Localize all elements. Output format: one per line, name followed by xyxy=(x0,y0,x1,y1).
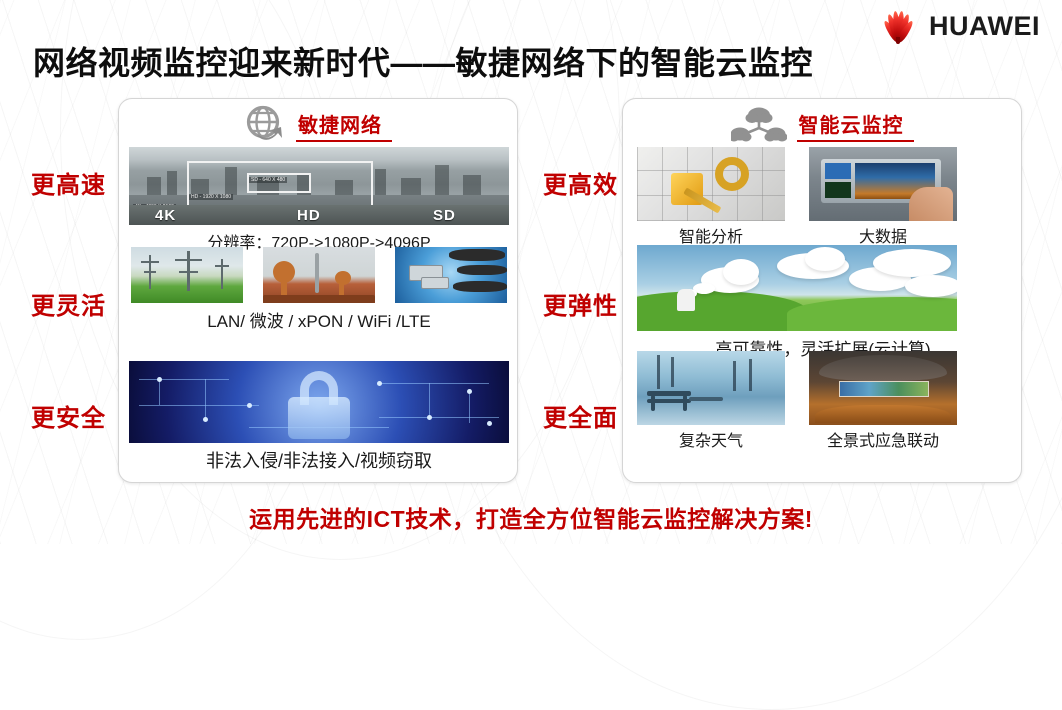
emergency-response-caption: 全景式应急联动 xyxy=(809,427,957,451)
panoramic-command-center-image xyxy=(809,351,957,425)
benefit-label-more-efficient: 更高效 xyxy=(543,165,618,200)
resolution-label-4k: 4K xyxy=(155,207,176,224)
benefit-label-more-comprehensive: 更全面 xyxy=(543,398,618,433)
benefit-label-more-flexible: 更灵活 xyxy=(31,286,106,321)
network-cable-connectors-image xyxy=(395,247,507,303)
circuit-board-padlock-security-image xyxy=(129,361,509,443)
huawei-flower-logo-icon xyxy=(874,8,920,44)
cloud-network-icon xyxy=(731,106,787,144)
slide-title: 网络视频监控迎来新时代——敏捷网络下的智能云监控 xyxy=(33,38,813,84)
padlock-body xyxy=(288,397,350,439)
oil-field-pumpjacks-image xyxy=(263,247,375,303)
resolution-label-hd: HD xyxy=(297,207,321,224)
power-transmission-towers-image xyxy=(131,247,243,303)
resolution-tag-hd: HD - 1920 X 1080 xyxy=(189,194,233,200)
complex-weather-caption: 复杂天气 xyxy=(637,427,785,451)
resolution-tag-sd: SD - 640 X 480 xyxy=(249,177,287,183)
benefit-label-more-secure: 更安全 xyxy=(31,398,106,433)
globe-refresh-icon xyxy=(244,105,286,145)
cloud-computing-sky-landscape-image xyxy=(637,245,957,331)
resolution-label-sd: SD xyxy=(433,207,456,224)
slide-canvas: HUAWEI 网络视频监控迎来新时代——敏捷网络下的智能云监控 更高速 更灵活 … xyxy=(0,0,1062,544)
resolution-label-bar: 4K HD SD xyxy=(129,205,509,225)
agile-network-title: 敏捷网络 xyxy=(296,109,392,142)
sd-resolution-frame xyxy=(247,173,311,193)
snowy-foggy-park-bench-image xyxy=(637,351,785,425)
huawei-logo-text: HUAWEI xyxy=(929,11,1040,42)
agile-network-panel-header: 敏捷网络 xyxy=(119,105,517,145)
cloud-monitoring-panel-header: 智能云监控 xyxy=(623,105,1021,145)
intelligent-analysis-caption: 智能分析 xyxy=(637,223,785,247)
cityscape-resolution-comparison-image: 4K - 4096 X 2160 HD - 1920 X 1080 SD - 6… xyxy=(129,147,509,225)
cloud-monitoring-title: 智能云监控 xyxy=(797,109,914,142)
intelligent-cloud-monitoring-panel: 智能云监控 智能分析 大数据 xyxy=(622,98,1022,483)
huawei-logo: HUAWEI xyxy=(874,8,1040,44)
big-data-caption: 大数据 xyxy=(809,223,957,247)
transport-technologies-caption: LAN/ 微波 / xPON / WiFi /LTE xyxy=(119,307,519,332)
touchscreen-big-data-display-image xyxy=(809,147,957,221)
puzzle-golden-key-image xyxy=(637,147,785,221)
security-threats-caption: 非法入侵/非法接入/视频窃取 xyxy=(119,447,519,473)
benefit-label-more-elastic: 更弹性 xyxy=(543,286,618,321)
benefit-label-higher-speed: 更高速 xyxy=(31,165,106,200)
agile-network-panel: 敏捷网络 4K - 4096 X 2160 HD - 1920 X 1080 S… xyxy=(118,98,518,483)
slide-tagline: 运用先进的ICT技术，打造全方位智能云监控解决方案! xyxy=(0,500,1062,534)
